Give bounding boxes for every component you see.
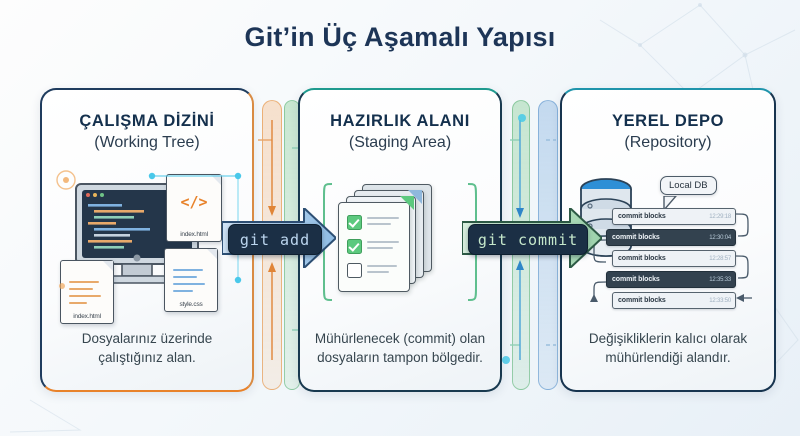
accent-sparkles — [42, 168, 252, 318]
node-dot — [502, 356, 510, 364]
checkbox-checked-2[interactable] — [347, 239, 362, 254]
staged-cards-fold-accents — [346, 190, 436, 220]
panel-description: Değişikliklerin kalıcı olarak mühürlendi… — [576, 329, 760, 368]
local-db-label: Local DB — [669, 180, 708, 191]
panel-title: ÇALIŞMA DİZİNİ — [42, 112, 252, 131]
page-title: Git’in Üç Aşamalı Yapısı — [0, 22, 800, 53]
panel-description: Dosyalarınız üzerinde çalıştığınız alan. — [56, 329, 238, 368]
checkbox-unchecked-3[interactable] — [347, 263, 362, 278]
panel-subtitle: (Working Tree) — [42, 134, 252, 152]
command-label-git-commit: git commit — [468, 224, 588, 255]
panel-subtitle: (Repository) — [562, 134, 774, 152]
panel-description: Mühürlenecek (commit) olan dosyaların ta… — [314, 329, 486, 368]
panel-header-repository: YEREL DEPO (Repository) — [562, 112, 774, 152]
commit-chain-links — [576, 202, 766, 314]
command-label-git-add: git add — [228, 224, 322, 255]
panel-title: YEREL DEPO — [562, 112, 774, 131]
panel-header-working-tree: ÇALIŞMA DİZİNİ (Working Tree) — [42, 112, 252, 152]
panel-header-staging-area: HAZIRLIK ALANI (Staging Area) — [300, 112, 500, 152]
panel-subtitle: (Staging Area) — [300, 134, 500, 152]
local-db-callout: Local DB — [660, 176, 717, 195]
panel-title: HAZIRLIK ALANI — [300, 112, 500, 131]
